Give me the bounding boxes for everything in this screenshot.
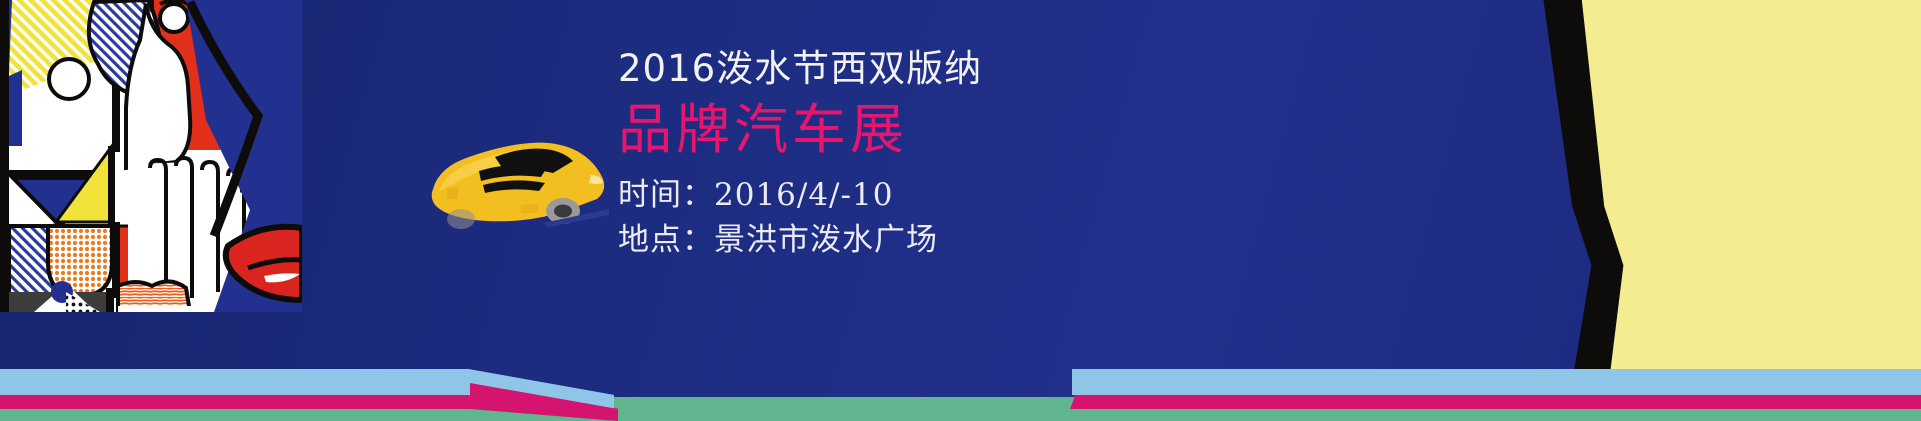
sports-car-illustration bbox=[425, 127, 610, 237]
event-location: 地点：景洪市泼水广场 bbox=[618, 218, 1378, 263]
event-headline: 品牌汽车展 bbox=[618, 95, 1378, 165]
pop-art-collage bbox=[0, 0, 302, 312]
bottom-ribbon-stripes bbox=[0, 291, 1921, 421]
event-subtitle: 2016泼水节西双版纳 bbox=[618, 48, 1378, 91]
event-banner: 2016泼水节西双版纳 品牌汽车展 时间：2016/4/-10 地点：景洪市泼水… bbox=[0, 0, 1921, 421]
event-copy-block: 2016泼水节西双版纳 品牌汽车展 时间：2016/4/-10 地点：景洪市泼水… bbox=[618, 48, 1378, 263]
event-time: 时间：2016/4/-10 bbox=[618, 173, 1378, 218]
